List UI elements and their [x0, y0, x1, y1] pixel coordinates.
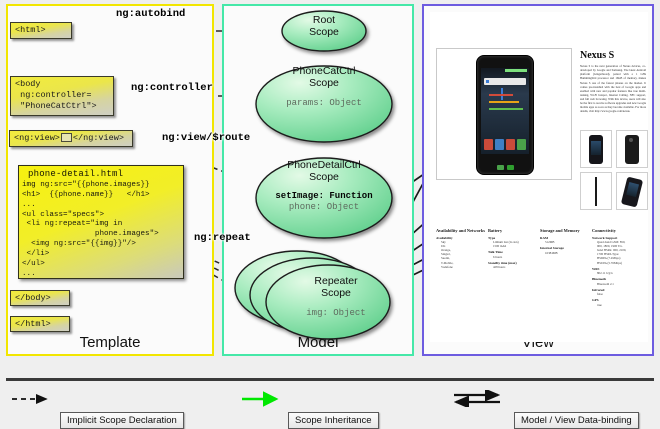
- spec-val-3-3: false: [592, 292, 642, 296]
- edge-label-ng-autobind: ng:autobind: [116, 8, 185, 20]
- legend-divider: [6, 378, 654, 381]
- spec-header-1: Battery: [488, 228, 538, 234]
- spec-header-3: Connectivity: [592, 228, 642, 234]
- legend-item-implicit-scope-declaration: Implicit Scope Declaration: [10, 390, 56, 408]
- code-callout-title: phone-detail.html: [22, 168, 180, 179]
- spec-val-2-0: 512MB: [540, 240, 590, 244]
- spec-header-2: Storage and Memory: [540, 228, 590, 234]
- spec-header-0: Availability and Networks: [436, 228, 486, 234]
- spec-val-3-1: 802.11 b/g/n: [592, 271, 642, 275]
- thumbnail-front-icon: [589, 135, 603, 164]
- tag-html-open: <html>: [10, 22, 72, 39]
- hero-image-frame: [436, 48, 572, 180]
- code-callout-body: img ng:src="{{phone.images}} <h1> {{phon…: [22, 181, 180, 280]
- thumbnail-back-icon: [625, 135, 639, 164]
- spec-column-availability: Availability and Networks Availability S…: [436, 228, 486, 269]
- tag-body-open: <body ng:controller= "PhoneCatCtrl">: [10, 76, 114, 116]
- spec-column-storage: Storage and Memory RAM 512MB Internal St…: [540, 228, 590, 255]
- thumbnail-tilted[interactable]: [616, 172, 648, 210]
- spec-val-1-1: 6 hours: [488, 255, 538, 259]
- thumbnail-back[interactable]: [616, 130, 648, 168]
- phone-description: Nexus S is the next generation of Nexus …: [580, 64, 646, 126]
- ng-view-open-text: <ng:view>: [14, 133, 60, 143]
- legend-label-implicit-scope-declaration: Implicit Scope Declaration: [60, 412, 184, 429]
- thumbnail-tilted-icon: [621, 176, 643, 207]
- tag-ng-view: <ng:view></ng:view>: [9, 130, 133, 147]
- spec-val-1-0: Lithium Ion (Li-Ion) 1500 mAh: [488, 240, 538, 248]
- phone-graphic-line-2: [489, 101, 519, 103]
- phone-hardware-keys: [483, 164, 527, 171]
- legend-green-arrow-icon: [240, 390, 286, 407]
- phone-hero-image: [476, 55, 534, 175]
- phone-statusbar: [505, 69, 527, 72]
- thumbnail-edge[interactable]: [580, 172, 612, 210]
- thumbnail-front[interactable]: [580, 130, 612, 168]
- panel-model: Model: [222, 4, 414, 356]
- edge-label-ng-view-route: ng:view/$route: [162, 132, 250, 144]
- legend-item-model-view-data-binding: Model / View Data-binding: [452, 390, 510, 408]
- legend-label-scope-inheritance: Scope Inheritance: [288, 412, 379, 429]
- edge-label-ng-repeat: ng:repeat: [194, 232, 251, 244]
- phone-title: Nexus S: [580, 50, 646, 61]
- tag-html-close: </html>: [10, 316, 70, 332]
- spec-val-0-0: Sky UK Orange, Singtel, Suomi, T-Mobile,…: [436, 240, 486, 269]
- panel-label-model: Model: [224, 334, 412, 351]
- phone-graphic-line-1: [489, 94, 513, 96]
- spec-val-1-2: 428 hours: [488, 265, 538, 269]
- spec-column-connectivity: Connectivity Network Support Quad-band G…: [592, 228, 642, 307]
- ng-view-close-text: </ng:view>: [73, 133, 124, 143]
- view-phone-detail-page: Nexus S Nexus S is the next generation o…: [430, 12, 648, 342]
- legend: Implicit Scope Declaration Scope Inherit…: [0, 378, 660, 420]
- phone-graphic-line-3: [489, 108, 523, 110]
- code-callout-phone-detail: phone-detail.html img ng:src="{{phone.im…: [18, 165, 184, 279]
- legend-label-model-view-data-binding: Model / View Data-binding: [514, 412, 639, 429]
- phone-screen: [481, 68, 529, 154]
- phone-app-dock: [484, 139, 526, 150]
- spec-val-3-2: Bluetooth 2.1: [592, 282, 642, 286]
- legend-item-scope-inheritance: Scope Inheritance: [240, 390, 286, 408]
- ng-view-slot-icon: [61, 133, 72, 142]
- legend-dashed-arrow-icon: [10, 390, 56, 407]
- specs-table: Availability and Networks Availability S…: [436, 228, 642, 334]
- edge-label-ng-controller: ng:controller: [131, 82, 213, 94]
- legend-double-arrow-icon: [452, 390, 510, 407]
- spec-val-3-4: true: [592, 303, 642, 307]
- phone-searchbar: [484, 78, 526, 85]
- spec-column-battery: Battery Type Lithium Ion (Li-Ion) 1500 m…: [488, 228, 538, 269]
- panel-label-template: Template: [8, 334, 212, 351]
- spec-val-2-1: 16384MB: [540, 251, 590, 255]
- spec-val-3-0: Quad-band GSM: 850, 900, 1800, 1900 Tri-…: [592, 240, 642, 264]
- thumbnail-edge-icon: [595, 177, 597, 206]
- tag-body-close: </body>: [10, 290, 70, 306]
